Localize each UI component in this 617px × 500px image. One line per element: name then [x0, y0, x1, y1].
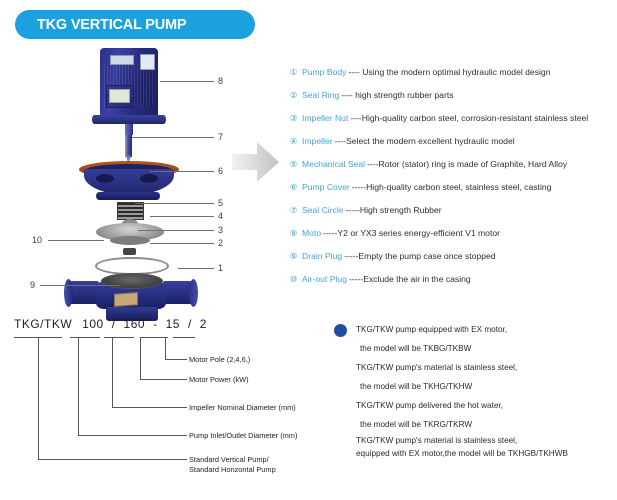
callout-line-10 [48, 240, 104, 241]
callout-line-2 [150, 243, 214, 244]
model-variant-notes: TKG/TKW pump equipped with EX motor, the… [334, 320, 614, 460]
impeller-nut-part [123, 248, 136, 255]
legend-part-2: Seal Ring [302, 90, 339, 100]
legend-index-1: ① [288, 67, 299, 77]
legend-desc-3: ----High-quality carbon steel, corrosion… [350, 113, 588, 123]
legend-desc-10: -----Exclude the air in the casing [349, 274, 471, 284]
callout-line-5 [135, 203, 214, 204]
legend-desc-1: ---- Using the modern optimal hydraulic … [348, 67, 550, 77]
model-label-power: Motor Power (kW) [189, 375, 249, 385]
legend-index-9: ⑨ [288, 251, 299, 261]
callout-number-1: 1 [218, 264, 223, 273]
legend-index-2: ② [288, 90, 299, 100]
model-label-pole: Motor Pole (2,4,6,) [189, 355, 250, 365]
callout-number-4: 4 [218, 212, 223, 221]
model-run-pole [165, 359, 187, 360]
legend-desc-8: -----Y2 or YX3 series energy-efficient V… [323, 228, 500, 238]
callout-number-3: 3 [218, 226, 223, 235]
right-arrow-icon [232, 140, 280, 184]
callout-number-8: 8 [218, 77, 223, 86]
legend-item-9: ⑨ Drain Plug -----Empty the pump case on… [288, 244, 613, 267]
model-label-series-1: Standard Vertical Pump/ [189, 455, 269, 465]
callout-number-2: 2 [218, 239, 223, 248]
model-bar-pole [173, 337, 195, 338]
pump-cover-window-right [140, 174, 158, 183]
callout-line-9 [40, 285, 120, 286]
legend-part-9: Drain Plug [302, 251, 342, 261]
model-run-impeller [112, 407, 187, 408]
legend-desc-6: -----High-quality carbon steel, stainles… [352, 182, 552, 192]
legend-part-8: Moto [302, 228, 321, 238]
callout-line-8 [160, 81, 214, 82]
legend-index-3: ③ [288, 113, 299, 123]
legend-part-7: Seal Circle [302, 205, 344, 215]
pump-casing-opening [101, 273, 163, 289]
legend-desc-2: ---- high strength rubber parts [341, 90, 453, 100]
note-line-2: the model will be TKBG/TKBW [334, 339, 614, 358]
legend-index-4: ④ [288, 136, 299, 146]
bullet-icon [334, 324, 347, 337]
legend-item-10: ⑩ Air-out Plug -----Exclude the air in t… [288, 267, 613, 290]
legend-item-2: ② Seal Ring ---- high strength rubber pa… [288, 83, 613, 106]
pump-cover-window-left [96, 174, 114, 183]
pump-shaft [125, 135, 132, 157]
legend-item-5: ⑤ Mechanical Seal ----Rotor (stator) rin… [288, 152, 613, 175]
model-seg-series: TKG/TKW [14, 317, 72, 331]
model-drop-inlet [78, 337, 79, 435]
legend-part-5: Mechanical Seal [302, 159, 365, 169]
legend-item-7: ⑦ Seal Circle -----High strength Rubber [288, 198, 613, 221]
model-sep-1: / [112, 317, 116, 331]
impeller-skirt [110, 236, 150, 245]
motor-shaft-upper [125, 124, 133, 135]
legend-item-6: ⑥ Pump Cover -----High-quality carbon st… [288, 175, 613, 198]
callout-number-7: 7 [218, 133, 223, 142]
motor-mounting-flange [92, 115, 166, 124]
model-code-string: TKG/TKW100/160-15/2 [14, 317, 207, 331]
note-line-7: TKG/TKW pump's material is stainless ste… [334, 434, 614, 447]
note-line-6: the model will be TKRG/TKRW [334, 415, 614, 434]
callout-number-10: 10 [32, 236, 42, 245]
model-seg-impeller: 160 [124, 317, 146, 331]
note-line-3: TKG/TKW pump's material is stainless ste… [334, 358, 614, 377]
legend-item-1: ① Pump Body ---- Using the modern optima… [288, 60, 613, 83]
motor-terminal-label [109, 89, 130, 103]
pump-outlet-flange-face [189, 279, 198, 307]
legend-item-4: ④ Impeller ----Select the modern excelle… [288, 129, 613, 152]
legend-index-10: ⑩ [288, 274, 299, 284]
callout-line-7 [132, 137, 214, 138]
legend-index-7: ⑦ [288, 205, 299, 215]
callout-line-3 [138, 230, 214, 231]
legend-part-10: Air-out Plug [302, 274, 347, 284]
model-drop-pole [165, 337, 166, 359]
model-sep-3: / [188, 317, 192, 331]
legend-desc-9: -----Empty the pump case once stopped [344, 251, 495, 261]
model-run-series [38, 459, 187, 460]
model-seg-power: 15 [166, 317, 180, 331]
model-bar-power [140, 337, 168, 338]
note-line-8: equipped with EX motor,the model will be… [334, 447, 614, 460]
legend-index-8: ⑧ [288, 228, 299, 238]
model-code-breakdown: TKG/TKW100/160-15/2 Motor Pole (2,4,6,) … [0, 305, 320, 500]
legend-index-6: ⑥ [288, 182, 299, 192]
pump-inlet-flange-face [64, 279, 73, 307]
note-line-5: TKG/TKW pump delivered the hot water, [334, 396, 614, 415]
model-bar-inlet [70, 337, 100, 338]
legend-index-5: ⑤ [288, 159, 299, 169]
model-sep-2: - [153, 317, 158, 331]
legend-part-1: Pump Body [302, 67, 346, 77]
parts-legend-list: ① Pump Body ---- Using the modern optima… [288, 60, 613, 290]
pump-cover-foot [96, 192, 160, 200]
model-label-impeller: Impeller Nominal Diameter (mm) [189, 403, 296, 413]
page-title: TKG VERTICAL PUMP [15, 17, 186, 33]
model-label-inlet: Pump Inlet/Outlet Diameter (mm) [189, 431, 297, 441]
mechanical-seal-part [117, 202, 144, 220]
legend-desc-4: ----Select the modern excellent hydrauli… [335, 136, 515, 146]
motor-nameplate [110, 55, 134, 65]
callout-line-6 [150, 171, 214, 172]
legend-part-6: Pump Cover [302, 182, 350, 192]
model-run-power [140, 379, 187, 380]
legend-desc-5: ----Rotor (stator) ring is made of Graph… [367, 159, 567, 169]
callout-number-5: 5 [218, 199, 223, 208]
legend-item-3: ③ Impeller Nut ----High-quality carbon s… [288, 106, 613, 129]
model-bar-impeller [104, 337, 134, 338]
header-banner: TKG VERTICAL PUMP [15, 10, 255, 39]
legend-part-3: Impeller Nut [302, 113, 348, 123]
callout-line-1 [178, 268, 214, 269]
model-run-inlet [78, 435, 187, 436]
model-label-series-2: Standard Horizontal Pump [189, 465, 276, 475]
model-drop-series [38, 337, 39, 459]
motor-label-plate [140, 54, 155, 70]
legend-part-4: Impeller [302, 136, 333, 146]
model-seg-pole: 2 [200, 317, 207, 331]
legend-desc-7: -----High strength Rubber [346, 205, 442, 215]
callout-line-4 [150, 216, 214, 217]
model-drop-impeller [112, 337, 113, 407]
note-line-1: TKG/TKW pump equipped with EX motor, [334, 320, 614, 339]
model-drop-power [140, 337, 141, 379]
callout-number-6: 6 [218, 167, 223, 176]
model-seg-inlet: 100 [82, 317, 104, 331]
callout-number-9: 9 [30, 281, 35, 290]
note-line-4: the model will be TKHG/TKHW [334, 377, 614, 396]
legend-item-8: ⑧ Moto -----Y2 or YX3 series energy-effi… [288, 221, 613, 244]
